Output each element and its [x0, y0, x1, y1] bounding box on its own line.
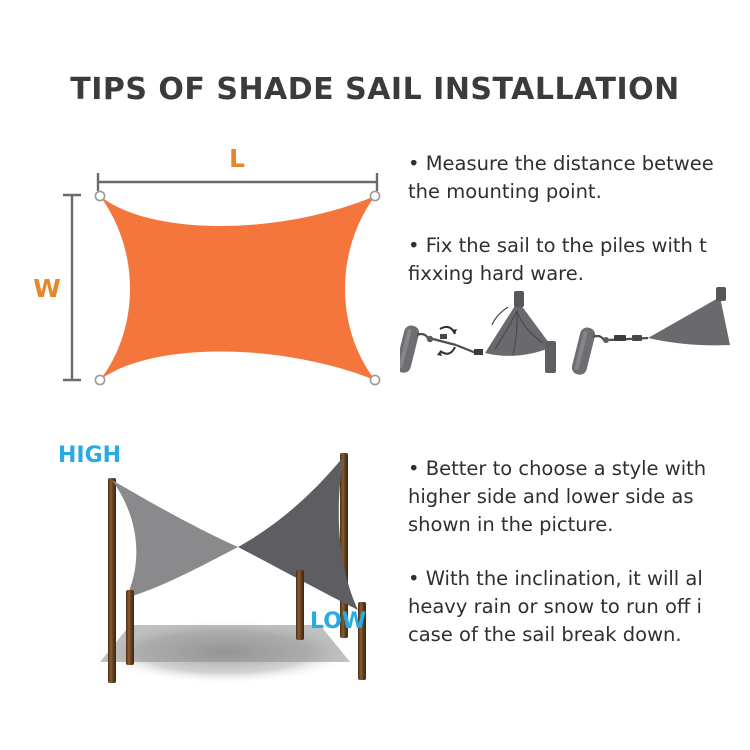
carabiner-icon [593, 336, 609, 343]
sail-corner-shape [485, 301, 552, 356]
post-low-front-left [126, 590, 134, 665]
tip-line: • Fix the sail to the piles with t [408, 232, 750, 260]
length-label: L [229, 144, 245, 173]
inclination-diagram-svg: HIGH LOW [20, 430, 410, 720]
dimension-diagram-svg: L W [30, 140, 400, 405]
tip-line: higher side and lower side as [408, 483, 750, 511]
shade-sail-shape [100, 196, 375, 380]
tips-bottom-list: • Better to choose a style with higher s… [408, 455, 750, 645]
tip-line: • With the inclination, it will al [408, 565, 750, 593]
d-ring-icon [474, 349, 483, 355]
turnbuckle-icon [609, 335, 648, 341]
carabiner-icon [417, 334, 433, 342]
support-post [514, 291, 524, 307]
tip-item: • Better to choose a style with higher s… [408, 455, 750, 539]
high-label: HIGH [58, 443, 121, 468]
hardware-illustration-panel [400, 283, 750, 383]
width-label: W [33, 274, 61, 303]
mounting-pole-icon [570, 326, 596, 376]
sail-panel-light [112, 480, 238, 598]
tip-item: • With the inclination, it will al heavy… [408, 565, 750, 649]
tip-line: • Measure the distance betwee [408, 150, 750, 178]
hardware-illustration-left [400, 291, 556, 374]
tip-line: heavy rain or snow to run off i [408, 593, 750, 621]
mounting-pole-icon [400, 324, 421, 374]
page-title: TIPS OF SHADE SAIL INSTALLATION [0, 72, 750, 107]
length-dimension-line [98, 173, 377, 191]
support-post [545, 341, 556, 373]
hardware-illustration-svg [400, 283, 750, 383]
width-dimension-line [63, 195, 81, 380]
inclination-diagram-panel: HIGH LOW [20, 430, 410, 720]
post-high-left [108, 478, 116, 683]
hardware-illustration-right [570, 287, 730, 376]
post-front-right [296, 570, 304, 640]
dimension-diagram-panel: L W [30, 140, 400, 405]
tip-line: case of the sail break down. [408, 621, 750, 649]
turnbuckle-icon [433, 327, 457, 356]
tip-line: the mounting point. [408, 178, 750, 206]
tip-line: • Better to choose a style with [408, 455, 750, 483]
tip-item: • Fix the sail to the piles with t fixxi… [408, 232, 750, 288]
tension-rope [456, 345, 476, 353]
tip-item: • Measure the distance betwee the mounti… [408, 150, 750, 206]
sail-corner-shape [648, 297, 730, 345]
low-label: LOW [310, 609, 366, 634]
infographic-page: TIPS OF SHADE SAIL INSTALLATION [0, 0, 750, 750]
tip-line: shown in the picture. [408, 511, 750, 539]
support-post [716, 287, 726, 301]
tips-top-list: • Measure the distance betwee the mounti… [408, 150, 750, 295]
